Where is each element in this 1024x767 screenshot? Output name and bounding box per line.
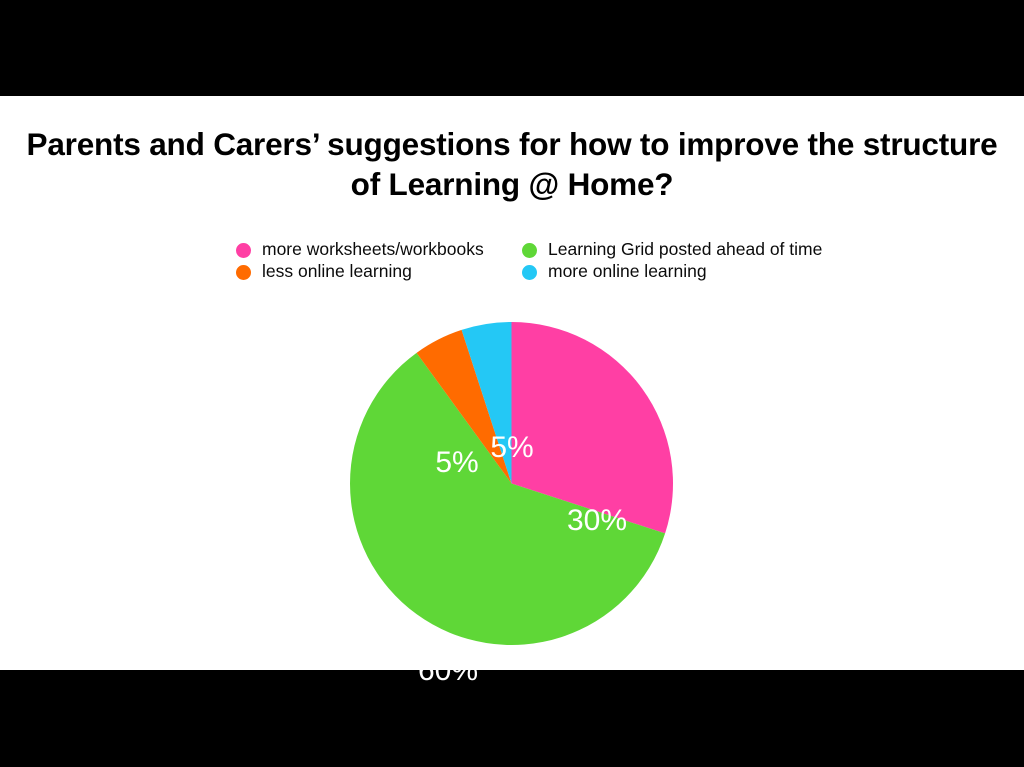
pie-chart: 30% 60% 5% 5% [350, 322, 673, 645]
legend-item-label: more online learning [548, 263, 707, 281]
legend-swatch-pink-icon [236, 243, 251, 258]
slice-label-less-online-learning: 5% [435, 448, 478, 478]
legend-item-label: less online learning [262, 263, 412, 281]
slice-label-learning-grid-posted-ahead-of-time: 60% [418, 656, 478, 686]
legend-swatch-green-icon [522, 243, 537, 258]
letterbox-bottom [0, 670, 1024, 767]
legend-item-more-online-learning[interactable]: more online learning [522, 261, 876, 283]
legend-item-label: more worksheets/workbooks [262, 241, 484, 259]
legend-item-more-worksheets-workbooks[interactable]: more worksheets/workbooks [236, 239, 522, 261]
slide-canvas: Parents and Carers’ suggestions for how … [0, 96, 1024, 670]
legend-item-less-online-learning[interactable]: less online learning [236, 261, 522, 283]
legend-swatch-blue-icon [522, 265, 537, 280]
slice-label-more-worksheets-workbooks: 30% [567, 506, 627, 536]
pie-chart-svg [350, 322, 673, 645]
page-title: Parents and Carers’ suggestions for how … [22, 124, 1002, 204]
slice-label-more-online-learning: 5% [490, 433, 533, 463]
slide: Parents and Carers’ suggestions for how … [0, 0, 1024, 767]
legend-swatch-orange-icon [236, 265, 251, 280]
letterbox-top [0, 0, 1024, 96]
chart-legend: more worksheets/workbooks Learning Grid … [236, 239, 876, 283]
legend-item-label: Learning Grid posted ahead of time [548, 241, 822, 259]
legend-item-learning-grid-posted-ahead-of-time[interactable]: Learning Grid posted ahead of time [522, 239, 876, 261]
